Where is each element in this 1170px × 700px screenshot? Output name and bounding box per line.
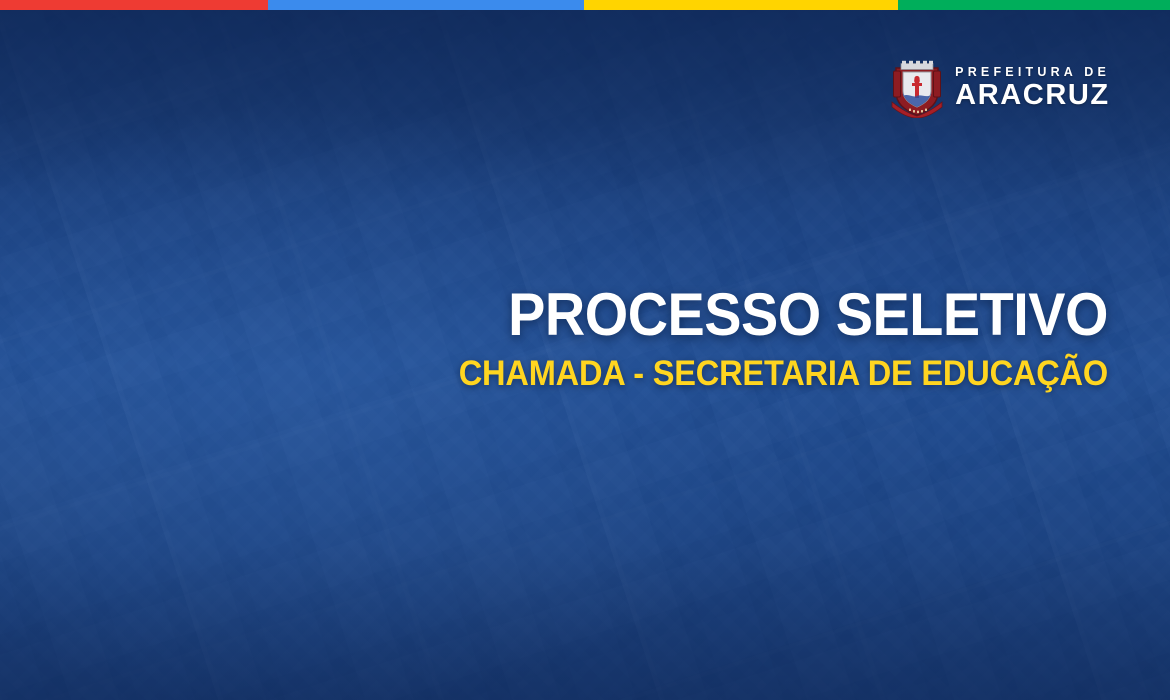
topbar-segment-yellow <box>584 0 898 10</box>
coat-of-arms-icon <box>890 58 944 118</box>
prefeitura-logo: PREFEITURA DE ARACRUZ <box>890 58 1110 118</box>
topbar-segment-blue <box>268 0 584 10</box>
topbar-segment-green <box>898 0 1170 10</box>
page-subtitle: CHAMADA - SECRETARIA DE EDUCAÇÃO <box>234 356 1108 392</box>
logo-wordmark: PREFEITURA DE ARACRUZ <box>955 66 1110 111</box>
topbar-segment-red <box>0 0 268 10</box>
page-title: PROCESSO SELETIVO <box>234 284 1108 345</box>
headline-block: PROCESSO SELETIVO CHAMADA - SECRETARIA D… <box>168 284 1108 393</box>
announcement-banner: PREFEITURA DE ARACRUZ PROCESSO SELETIVO … <box>0 0 1170 700</box>
logo-line-city: ARACRUZ <box>955 81 1110 110</box>
logo-line-prefeitura: PREFEITURA DE <box>955 66 1110 79</box>
topbar-color-stripe <box>0 0 1170 10</box>
